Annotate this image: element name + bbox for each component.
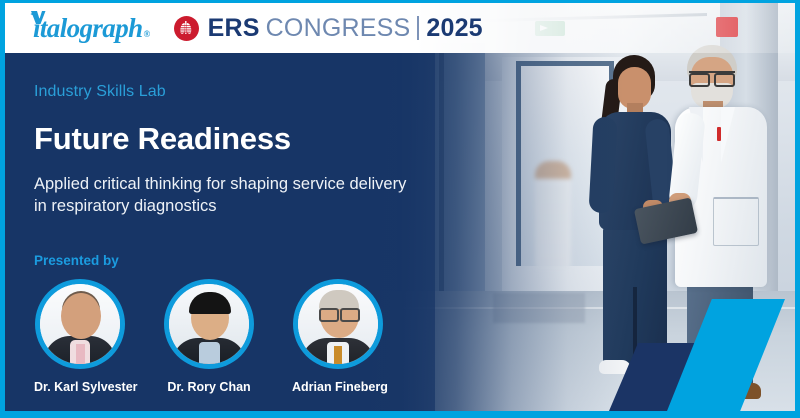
presenter-item: Dr. Rory Chan (163, 279, 255, 394)
eyebrow-label: Industry Skills Lab (34, 83, 435, 101)
presenter-name: Dr. Rory Chan (163, 380, 255, 394)
presenter-name: Adrian Fineberg (292, 380, 384, 394)
avatar-ring (164, 279, 254, 369)
avatar-ring (35, 279, 125, 369)
presenter-item: Dr. Karl Sylvester (34, 279, 126, 394)
avatar (169, 284, 249, 364)
logo-header-bar: italograph ® (5, 3, 795, 53)
content-panel: Industry Skills Lab Future Readiness App… (5, 53, 435, 411)
ers-congress-logo: ERS CONGRESS 2025 (174, 16, 483, 41)
avatar (40, 284, 120, 364)
vitalograph-wordmark: italograph (33, 13, 143, 44)
presented-by-label: Presented by (34, 253, 435, 268)
ers-congress-text: ERS CONGRESS 2025 (208, 16, 483, 41)
promotional-banner: italograph ® (0, 0, 800, 418)
subtitle-text: Applied critical thinking for shaping se… (34, 174, 419, 218)
registered-trademark-symbol: ® (144, 29, 150, 39)
avatar-ring (293, 279, 383, 369)
ers-abbreviation: ERS (208, 16, 260, 41)
ers-year: 2025 (426, 16, 482, 41)
avatar (298, 284, 378, 364)
vitalograph-v-mark (30, 1, 46, 16)
presenter-item: Adrian Fineberg (292, 279, 384, 394)
ers-lungs-circle-icon (174, 16, 199, 41)
presenter-name: Dr. Karl Sylvester (34, 380, 126, 394)
congress-word: CONGRESS (266, 16, 411, 41)
vitalograph-logo: italograph ® (33, 13, 150, 44)
page-title: Future Readiness (34, 121, 435, 157)
presenter-list: Dr. Karl Sylvester Dr. Rory Chan (34, 279, 435, 394)
ers-divider (417, 16, 419, 40)
